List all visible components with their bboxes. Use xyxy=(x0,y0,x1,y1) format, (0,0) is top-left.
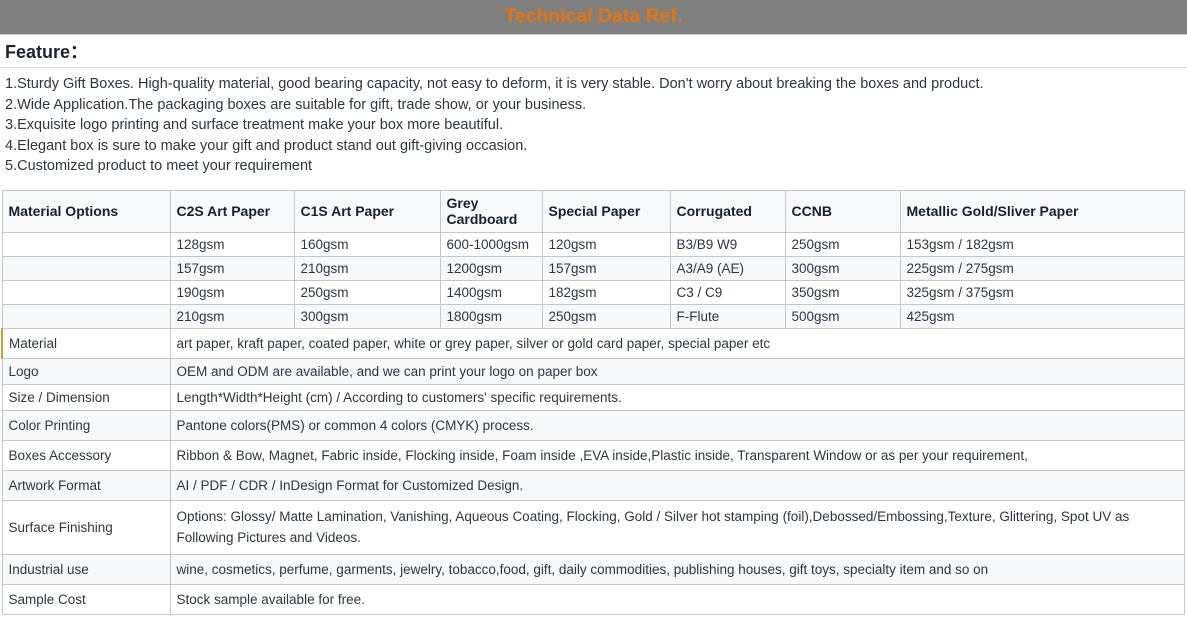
cell xyxy=(2,304,170,328)
column-header-ccnb: CCNB xyxy=(785,190,900,232)
table-row-surface-finishing: Surface Finishing Options: Glossy/ Matte… xyxy=(2,500,1184,554)
row-value-boxes-accessory: Ribbon & Bow, Magnet, Fabric inside, Flo… xyxy=(170,440,1184,470)
cell xyxy=(2,256,170,280)
table-row: 190gsm 250gsm 1400gsm 182gsm C3 / C9 350… xyxy=(2,280,1184,304)
row-value-material: art paper, kraft paper, coated paper, wh… xyxy=(170,328,1184,358)
cell: B3/B9 W9 xyxy=(670,232,785,256)
cell: C3 / C9 xyxy=(670,280,785,304)
row-label-size-dimension: Size / Dimension xyxy=(2,384,170,410)
row-value-artwork-format: AI / PDF / CDR / InDesign Format for Cus… xyxy=(170,470,1184,500)
cell: 300gsm xyxy=(785,256,900,280)
cell: 210gsm xyxy=(294,256,440,280)
cell: 128gsm xyxy=(170,232,294,256)
cell: A3/A9 (AE) xyxy=(670,256,785,280)
feature-line: 2.Wide Application.The packaging boxes a… xyxy=(5,95,1187,116)
column-header-c2s-art-paper: C2S Art Paper xyxy=(170,190,294,232)
cell: 600-1000gsm xyxy=(440,232,542,256)
cell: 160gsm xyxy=(294,232,440,256)
cell xyxy=(2,280,170,304)
row-label-boxes-accessory: Boxes Accessory xyxy=(2,440,170,470)
cell: 250gsm xyxy=(785,232,900,256)
row-value-logo: OEM and ODM are available, and we can pr… xyxy=(170,358,1184,384)
cell: 350gsm xyxy=(785,280,900,304)
table-row: 157gsm 210gsm 1200gsm 157gsm A3/A9 (AE) … xyxy=(2,256,1184,280)
feature-line: 1.Sturdy Gift Boxes. High-quality materi… xyxy=(5,74,1187,95)
feature-heading-row: Feature： xyxy=(0,35,1187,68)
feature-list: 1.Sturdy Gift Boxes. High-quality materi… xyxy=(0,68,1187,183)
cell: 182gsm xyxy=(542,280,670,304)
cell: F-Flute xyxy=(670,304,785,328)
table-row-size-dimension: Size / Dimension Length*Width*Height (cm… xyxy=(2,384,1184,410)
row-label-material: Material xyxy=(2,328,170,358)
table-row-material: Material art paper, kraft paper, coated … xyxy=(2,328,1184,358)
cell: 153gsm / 182gsm xyxy=(900,232,1184,256)
feature-line: 3.Exquisite logo printing and surface tr… xyxy=(5,115,1187,136)
column-header-material-options: Material Options xyxy=(2,190,170,232)
feature-heading: Feature： xyxy=(5,38,88,64)
feature-line: 4.Elegant box is sure to make your gift … xyxy=(5,136,1187,157)
cell: 250gsm xyxy=(542,304,670,328)
column-header-corrugated: Corrugated xyxy=(670,190,785,232)
cell: 210gsm xyxy=(170,304,294,328)
table-row: 210gsm 300gsm 1800gsm 250gsm F-Flute 500… xyxy=(2,304,1184,328)
row-label-logo: Logo xyxy=(2,358,170,384)
table-row: 128gsm 160gsm 600-1000gsm 120gsm B3/B9 W… xyxy=(2,232,1184,256)
cell: 425gsm xyxy=(900,304,1184,328)
row-value-surface-finishing: Options: Glossy/ Matte Lamination, Vanis… xyxy=(170,500,1184,554)
cell: 250gsm xyxy=(294,280,440,304)
cell: 157gsm xyxy=(542,256,670,280)
column-header-grey-cardboard: Grey Cardboard xyxy=(440,190,542,232)
row-label-color-printing: Color Printing xyxy=(2,410,170,440)
table-row-boxes-accessory: Boxes Accessory Ribbon & Bow, Magnet, Fa… xyxy=(2,440,1184,470)
cell: 225gsm / 275gsm xyxy=(900,256,1184,280)
row-label-surface-finishing: Surface Finishing xyxy=(2,500,170,554)
cell: 157gsm xyxy=(170,256,294,280)
page-title: Technical Data Ref. xyxy=(505,6,683,28)
row-label-artwork-format: Artwork Format xyxy=(2,470,170,500)
table-row-sample-cost: Sample Cost Stock sample available for f… xyxy=(2,584,1184,614)
row-label-industrial-use: Industrial use xyxy=(2,554,170,584)
column-header-c1s-art-paper: C1S Art Paper xyxy=(294,190,440,232)
row-value-color-printing: Pantone colors(PMS) or common 4 colors (… xyxy=(170,410,1184,440)
cell: 190gsm xyxy=(170,280,294,304)
column-header-special-paper: Special Paper xyxy=(542,190,670,232)
cell: 1400gsm xyxy=(440,280,542,304)
cell xyxy=(2,232,170,256)
table-header-row: Material Options C2S Art Paper C1S Art P… xyxy=(2,190,1184,232)
table-row-industrial-use: Industrial use wine, cosmetics, perfume,… xyxy=(2,554,1184,584)
specification-table: Material Options C2S Art Paper C1S Art P… xyxy=(1,190,1185,615)
row-value-sample-cost: Stock sample available for free. xyxy=(170,584,1184,614)
page-banner: Technical Data Ref. xyxy=(0,0,1187,35)
cell: 300gsm xyxy=(294,304,440,328)
technical-data-sheet: Technical Data Ref. Feature： 1.Sturdy Gi… xyxy=(0,0,1187,620)
row-value-industrial-use: wine, cosmetics, perfume, garments, jewe… xyxy=(170,554,1184,584)
cell: 1800gsm xyxy=(440,304,542,328)
cell: 500gsm xyxy=(785,304,900,328)
table-row-logo: Logo OEM and ODM are available, and we c… xyxy=(2,358,1184,384)
row-label-sample-cost: Sample Cost xyxy=(2,584,170,614)
cell: 120gsm xyxy=(542,232,670,256)
table-row-artwork-format: Artwork Format AI / PDF / CDR / InDesign… xyxy=(2,470,1184,500)
column-header-metallic-paper: Metallic Gold/Sliver Paper xyxy=(900,190,1184,232)
feature-line: 5.Customized product to meet your requir… xyxy=(5,156,1187,177)
cell: 1200gsm xyxy=(440,256,542,280)
cell: 325gsm / 375gsm xyxy=(900,280,1184,304)
table-row-color-printing: Color Printing Pantone colors(PMS) or co… xyxy=(2,410,1184,440)
row-value-size-dimension: Length*Width*Height (cm) / According to … xyxy=(170,384,1184,410)
